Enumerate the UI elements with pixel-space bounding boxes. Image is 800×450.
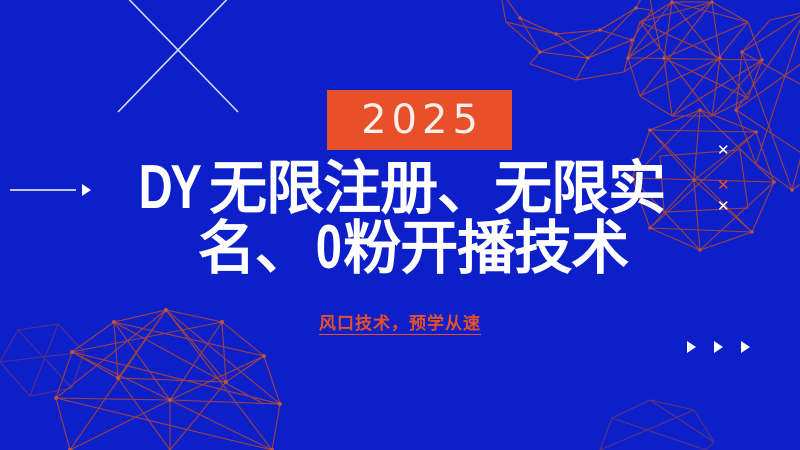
headline-line-2-rest: 粉开播技术: [343, 216, 628, 281]
x-mark-right-orange: ✕: [717, 178, 730, 193]
poster-canvas: 2025 DY无限注册、无限实 名、0粉开播技术 风口技术，预学从速 ✕ ✕ ✕: [0, 0, 800, 450]
headline-line-1: DY无限注册、无限实: [0, 158, 800, 218]
subtitle-block: 风口技术，预学从速: [0, 309, 800, 334]
year-badge-label: 2025: [356, 100, 483, 140]
arrow-left-pointer: [82, 184, 91, 196]
arrow-bottom-2: [714, 341, 723, 353]
headline-line-2-latin: 0: [316, 218, 340, 278]
big-x-top-left: [118, 0, 238, 112]
headline-line-2: 名、0粉开播技术: [0, 218, 800, 278]
arrow-bottom-3: [741, 341, 750, 353]
wireframe-polygon-bottom-right: [600, 400, 714, 450]
headline-line-1-rest: 无限注册、无限实: [209, 156, 665, 221]
arrow-bottom-1: [687, 341, 696, 353]
x-mark-right-white: ✕: [717, 199, 730, 214]
headline-line-2-prefix: 名、: [198, 216, 312, 281]
subtitle-text: 风口技术，预学从速: [319, 314, 481, 335]
year-badge: 2025: [327, 90, 512, 150]
x-mark-top-right-white: ✕: [717, 143, 730, 158]
wireframe-ribbon-top: [500, 0, 660, 80]
headline-block: DY无限注册、无限实 名、0粉开播技术: [0, 158, 800, 277]
headline-line-1-latin: DY: [139, 158, 200, 218]
wireframe-sphere-topright-a: [628, 2, 762, 116]
